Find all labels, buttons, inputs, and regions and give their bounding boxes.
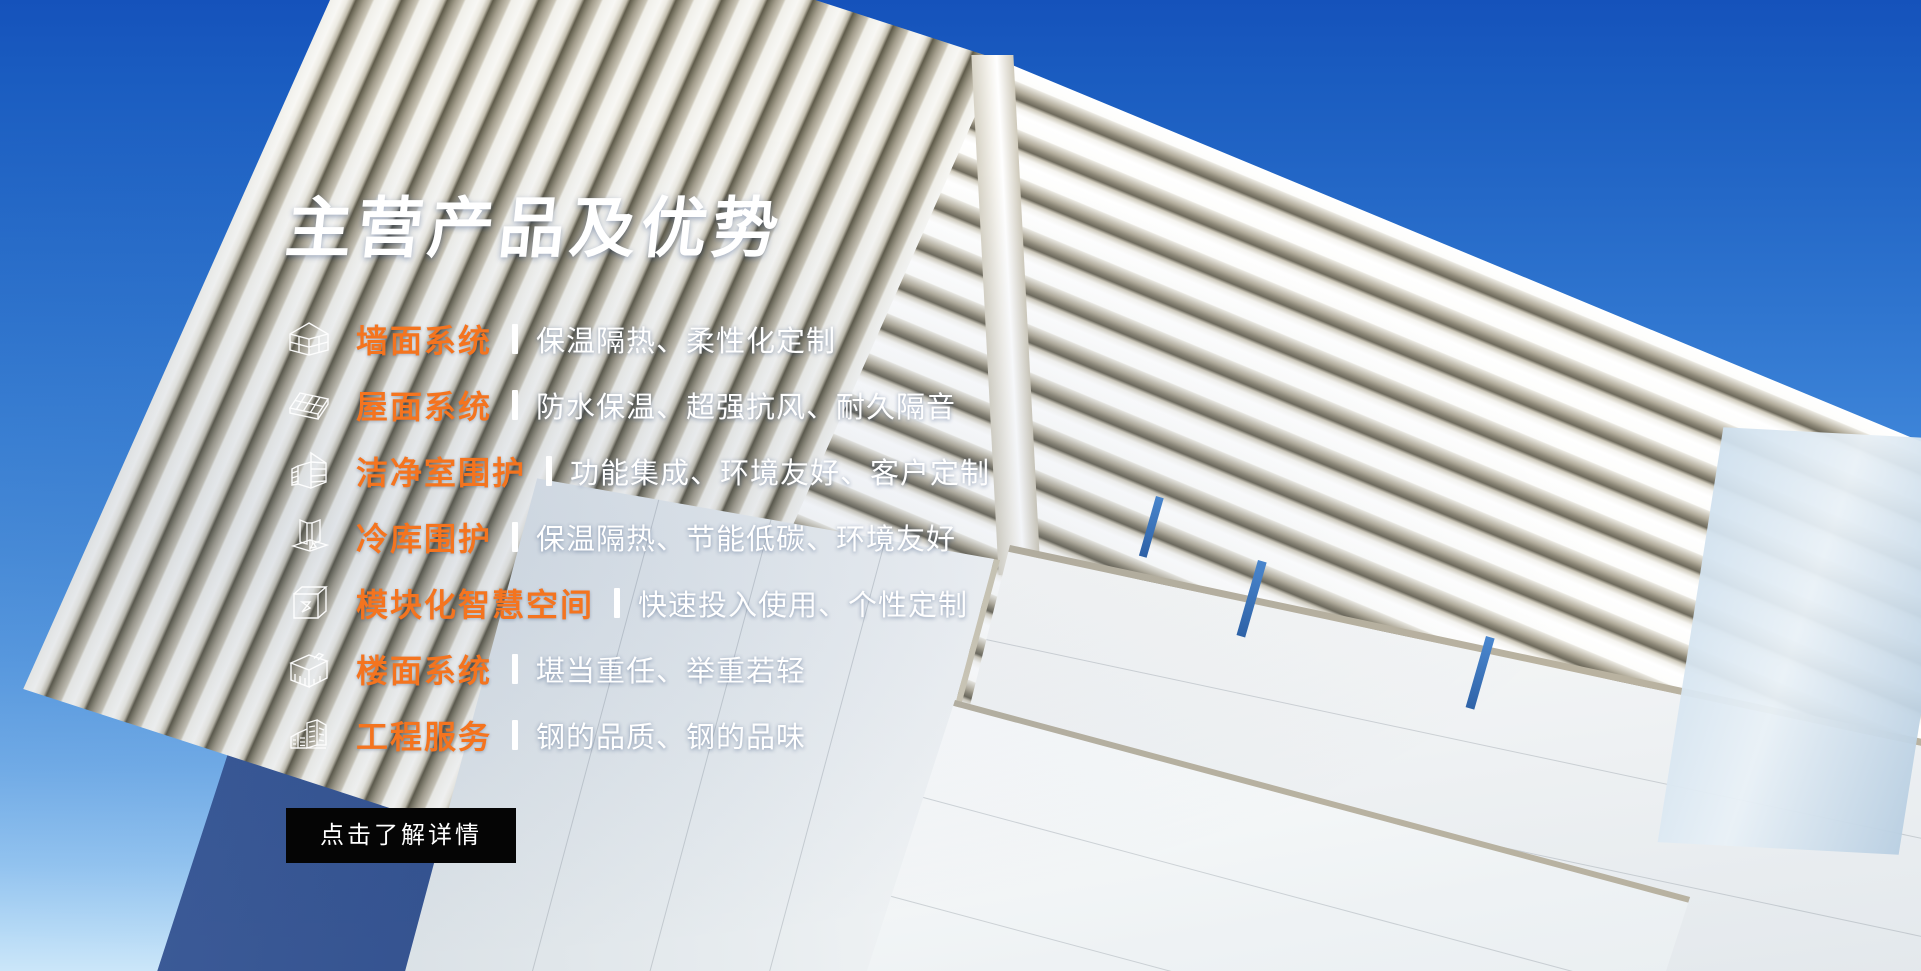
list-item[interactable]: 墙面系统 保温隔热、柔性化定制 [286, 306, 1386, 372]
engineering-service-icon [286, 712, 332, 758]
feature-separator [512, 390, 518, 420]
product-advantage-banner: 主营产品及优势 墙面系统 保温隔热、柔性化定制 [0, 0, 1921, 971]
feature-separator [512, 522, 518, 552]
feature-description: 快速投入使用、个性定制 [638, 582, 968, 624]
feature-description: 堪当重任、举重若轻 [536, 648, 806, 690]
feature-description: 防水保温、超强抗风、耐久隔音 [536, 384, 956, 426]
feature-name: 楼面系统 [356, 646, 492, 692]
feature-name: 冷库围护 [356, 514, 492, 560]
list-item[interactable]: 楼面系统 堪当重任、举重若轻 [286, 636, 1386, 702]
feature-description: 功能集成、环境友好、客户定制 [570, 450, 990, 492]
feature-name: 墙面系统 [356, 316, 492, 362]
feature-name: 洁净室围护 [356, 448, 526, 494]
feature-separator [512, 654, 518, 684]
list-item[interactable]: 模块化智慧空间 快速投入使用、个性定制 [286, 570, 1386, 636]
list-item[interactable]: 洁净室围护 功能集成、环境友好、客户定制 [286, 438, 1386, 504]
wall-frame-icon [286, 316, 332, 362]
feature-description: 保温隔热、节能低碳、环境友好 [536, 516, 956, 558]
list-item[interactable]: 工程服务 钢的品质、钢的品味 [286, 702, 1386, 768]
feature-separator [512, 720, 518, 750]
feature-description: 钢的品质、钢的品味 [536, 714, 806, 756]
learn-more-button[interactable]: 点击了解详情 [286, 808, 516, 863]
feature-separator [614, 588, 620, 618]
floor-deck-icon [286, 646, 332, 692]
feature-name: 模块化智慧空间 [356, 580, 594, 626]
list-item[interactable]: 冷库围护 保温隔热、节能低碳、环境友好 [286, 504, 1386, 570]
cold-storage-icon [286, 514, 332, 560]
feature-description: 保温隔热、柔性化定制 [536, 318, 836, 360]
feature-list: 墙面系统 保温隔热、柔性化定制 屋面系统 [286, 306, 1386, 768]
list-item[interactable]: 屋面系统 防水保温、超强抗风、耐久隔音 [286, 372, 1386, 438]
feature-separator [546, 456, 552, 486]
feature-name: 屋面系统 [356, 382, 492, 428]
banner-content: 主营产品及优势 墙面系统 保温隔热、柔性化定制 [286, 196, 1386, 863]
feature-separator [512, 324, 518, 354]
roof-panel-icon [286, 382, 332, 428]
modular-cube-icon [286, 580, 332, 626]
cleanroom-building-icon [286, 448, 332, 494]
page-title: 主营产品及优势 [283, 196, 1390, 262]
feature-name: 工程服务 [356, 712, 492, 758]
